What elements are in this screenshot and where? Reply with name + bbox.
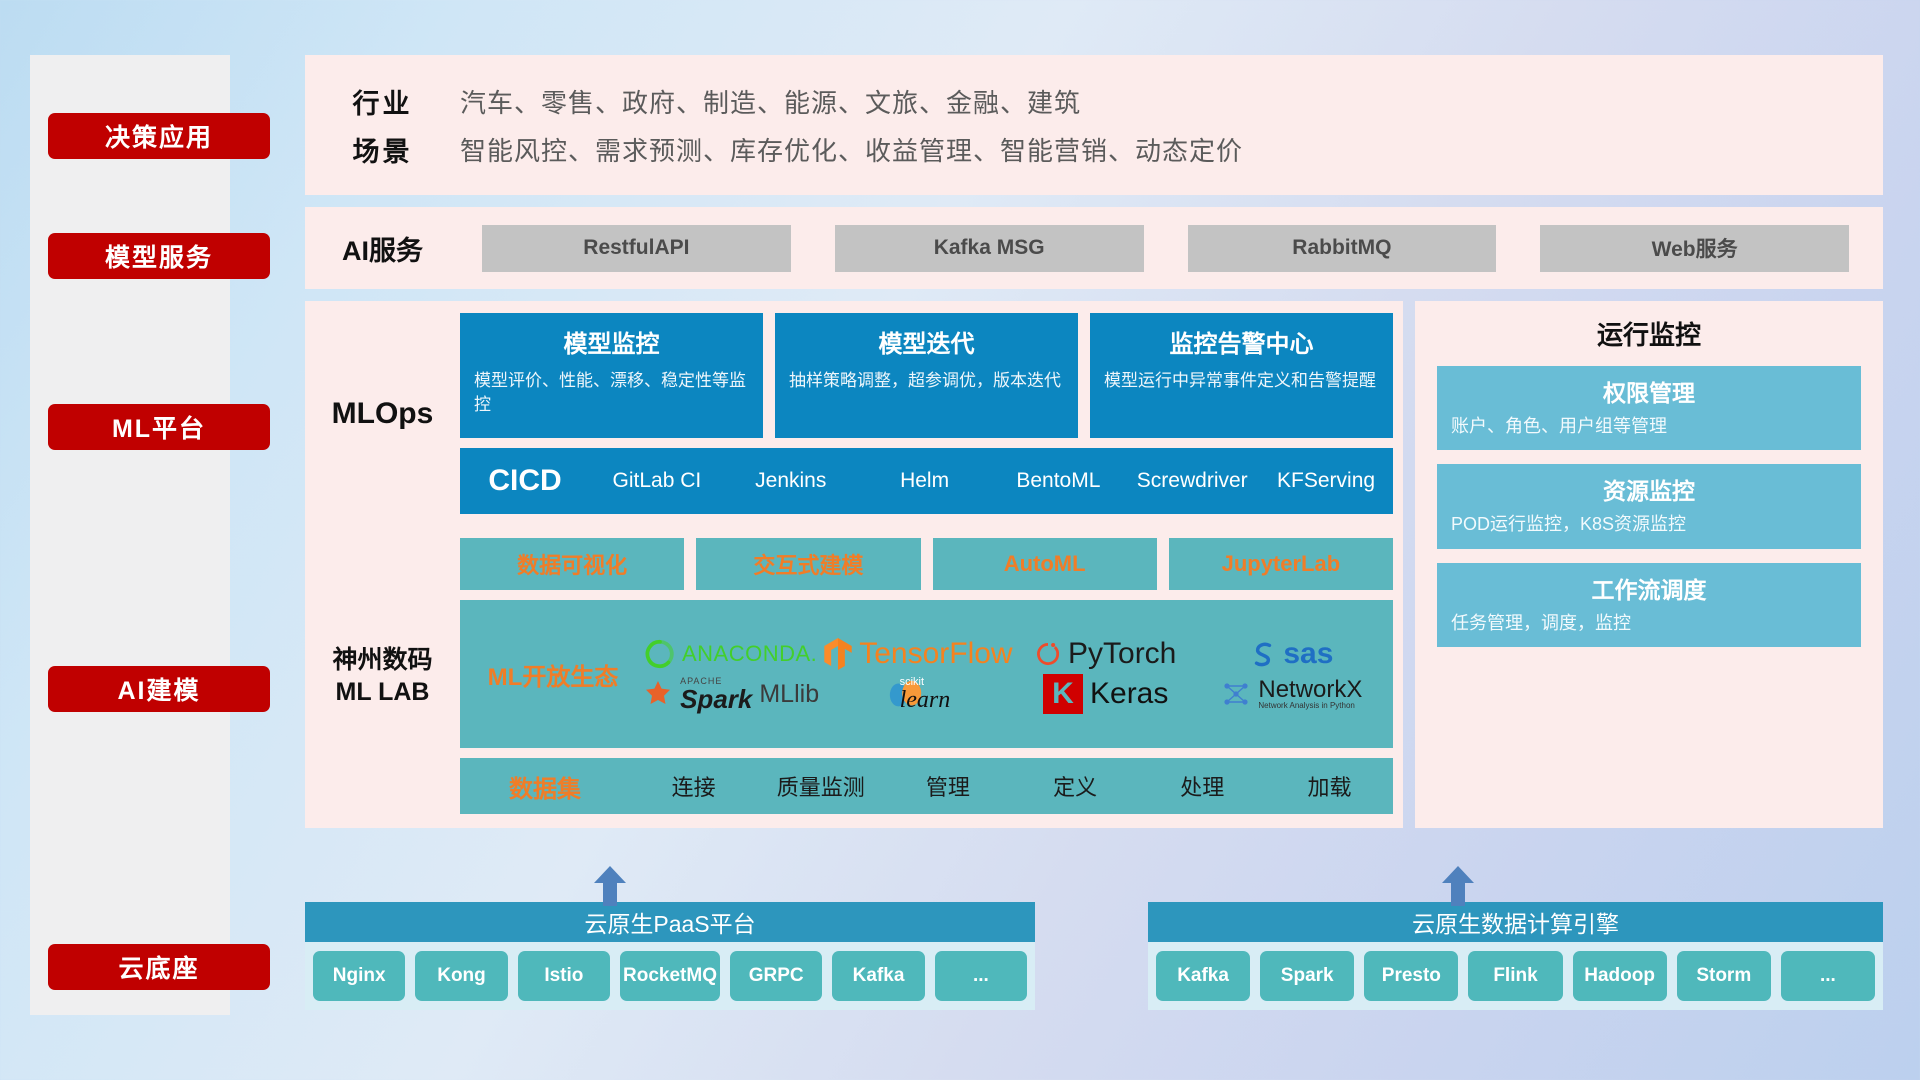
cloud-chip-kong[interactable]: Kong (415, 951, 507, 1001)
pytorch-icon (1035, 639, 1061, 669)
industry-values: 汽车、零售、政府、制造、能源、文旅、金融、建筑 (460, 83, 1081, 120)
tool-jupyterlab[interactable]: JupyterLab (1169, 538, 1393, 590)
mlops-card-model-iteration[interactable]: 模型迭代 抽样策略调整，超参调优，版本迭代 (775, 313, 1078, 438)
cicd-item-gitlab-ci[interactable]: GitLab CI (590, 470, 724, 492)
dataset-item-define[interactable]: 定义 (1012, 770, 1139, 802)
stage-chip-ml-platform[interactable]: ML平台 (48, 404, 270, 450)
stage-chip-label: 决策应用 (105, 118, 213, 154)
application-row-scenario: 场景 智能风控、需求预测、库存优化、收益管理、智能营销、动态定价 (305, 125, 1883, 173)
card-desc: 模型运行中异常事件定义和告警提醒 (1104, 369, 1379, 393)
paas-up-arrow-icon (590, 866, 630, 906)
networkx-logo: NetworkX Network Analysis in Python (1221, 677, 1362, 711)
tensorflow-wordmark: TensorFlow (859, 637, 1012, 671)
scikit-text: scikit (900, 677, 951, 688)
data-chip-presto[interactable]: Presto (1364, 951, 1458, 1001)
spark-mllib-logo: APACHE Spark MLlib (643, 677, 819, 712)
card-desc: POD运行监控，K8S资源监控 (1451, 512, 1847, 536)
stage-chip-label: AI建模 (117, 671, 200, 707)
data-chip-hadoop[interactable]: Hadoop (1573, 951, 1667, 1001)
cloud-base-section: 云原生PaaS平台 Nginx Kong Istio RocketMQ GRPC… (305, 880, 1883, 1040)
cloud-paas-group: 云原生PaaS平台 Nginx Kong Istio RocketMQ GRPC… (305, 902, 1035, 1010)
ml-ecosystem-logos: ANACONDA. TensorFlow (638, 634, 1385, 714)
cloud-data-engine-title: 云原生数据计算引擎 (1148, 902, 1883, 942)
card-title: 资源监控 (1451, 472, 1847, 506)
mlops-card-list: 模型监控 模型评价、性能、漂移、稳定性等监控 模型迭代 抽样策略调整，超参调优，… (460, 313, 1393, 438)
data-chip-kafka[interactable]: Kafka (1156, 951, 1250, 1001)
mlops-card-alert-center[interactable]: 监控告警中心 模型运行中异常事件定义和告警提醒 (1090, 313, 1393, 438)
anaconda-logo: ANACONDA. (645, 639, 817, 669)
tool-data-visualization[interactable]: 数据可视化 (460, 538, 684, 590)
cicd-item-screwdriver[interactable]: Screwdriver (1125, 470, 1259, 492)
ml-lab-label-line1: 神州数码 (332, 644, 432, 677)
dataset-item-process[interactable]: 处理 (1139, 770, 1266, 802)
spark-wordmark: Spark (680, 686, 752, 712)
cloud-paas-title: 云原生PaaS平台 (305, 902, 1035, 942)
dataset-item-load[interactable]: 加载 (1266, 770, 1393, 802)
stage-chip-decision-app[interactable]: 决策应用 (48, 113, 270, 159)
industry-label: 行业 (305, 82, 460, 121)
stage-chip-cloud-base[interactable]: 云底座 (48, 944, 270, 990)
cicd-item-helm[interactable]: Helm (858, 470, 992, 492)
stage-chip-label: 模型服务 (105, 238, 213, 274)
mllib-wordmark: MLlib (759, 680, 819, 709)
sas-icon (1250, 640, 1276, 668)
ai-service-item-rabbitmq[interactable]: RabbitMQ (1188, 225, 1497, 272)
applications-band: 行业 汽车、零售、政府、制造、能源、文旅、金融、建筑 场景 智能风控、需求预测、… (305, 55, 1883, 195)
cloud-chip-grpc[interactable]: GRPC (730, 951, 822, 1001)
pytorch-wordmark: PyTorch (1068, 637, 1176, 671)
application-row-industry: 行业 汽车、零售、政府、制造、能源、文旅、金融、建筑 (305, 77, 1883, 125)
card-desc: 抽样策略调整，超参调优，版本迭代 (789, 369, 1064, 393)
architecture-main: 行业 汽车、零售、政府、制造、能源、文旅、金融、建筑 场景 智能风控、需求预测、… (305, 55, 1883, 840)
ai-service-item-kafka-msg[interactable]: Kafka MSG (835, 225, 1144, 272)
sas-logo: sas (1250, 637, 1333, 671)
networkx-icon (1221, 679, 1251, 709)
monitor-card-resource[interactable]: 资源监控 POD运行监控，K8S资源监控 (1437, 464, 1861, 548)
ai-service-items: RestfulAPI Kafka MSG RabbitMQ Web服务 (460, 225, 1883, 272)
tensorflow-icon (824, 638, 852, 670)
scikit-learn-logo: scikit learn (887, 677, 951, 712)
pytorch-logo: PyTorch (1035, 637, 1176, 671)
cloud-data-engine-chips: Kafka Spark Presto Flink Hadoop Storm ..… (1148, 942, 1883, 1010)
learn-text: learn (900, 688, 951, 712)
data-chip-storm[interactable]: Storm (1677, 951, 1771, 1001)
cicd-bar: CICD GitLab CI Jenkins Helm BentoML Scre… (460, 448, 1393, 514)
card-title: 监控告警中心 (1104, 324, 1379, 359)
keras-logo: K Keras (1043, 674, 1168, 714)
mlops-card-model-monitoring[interactable]: 模型监控 模型评价、性能、漂移、稳定性等监控 (460, 313, 763, 438)
data-chip-flink[interactable]: Flink (1468, 951, 1562, 1001)
card-title: 模型迭代 (789, 324, 1064, 359)
networkx-tagline: Network Analysis in Python (1258, 702, 1362, 710)
cloud-data-engine-group: 云原生数据计算引擎 Kafka Spark Presto Flink Hadoo… (1148, 902, 1883, 1010)
cloud-chip-kafka[interactable]: Kafka (832, 951, 924, 1001)
ml-lab-label-line2: ML LAB (336, 676, 430, 709)
cicd-label: CICD (460, 464, 590, 498)
dataset-item-quality-monitor[interactable]: 质量监测 (757, 770, 884, 802)
cloud-chip-more[interactable]: ... (935, 951, 1027, 1001)
mlops-label: MLOps (305, 313, 460, 514)
keras-wordmark: Keras (1090, 677, 1168, 711)
monitor-card-workflow[interactable]: 工作流调度 任务管理，调度，监控 (1437, 563, 1861, 647)
stage-chip-ai-modeling[interactable]: AI建模 (48, 666, 270, 712)
cloud-paas-chips: Nginx Kong Istio RocketMQ GRPC Kafka ... (305, 942, 1035, 1010)
cicd-item-bentoml[interactable]: BentoML (991, 470, 1125, 492)
cloud-chip-istio[interactable]: Istio (518, 951, 610, 1001)
ml-ecosystem-label: ML开放生态 (468, 657, 638, 692)
spark-star-icon (643, 679, 673, 709)
ml-lab-tool-row: 数据可视化 交互式建模 AutoML JupyterLab (460, 538, 1393, 590)
ai-service-band: AI服务 RestfulAPI Kafka MSG RabbitMQ Web服务 (305, 207, 1883, 289)
runtime-monitoring-panel: 运行监控 权限管理 账户、角色、用户组等管理 资源监控 POD运行监控，K8S资… (1415, 301, 1883, 828)
stage-chip-label: ML平台 (112, 409, 206, 445)
data-chip-more[interactable]: ... (1781, 951, 1875, 1001)
dataset-label: 数据集 (460, 769, 630, 804)
networkx-wordmark: NetworkX (1258, 677, 1362, 702)
card-title: 工作流调度 (1451, 571, 1847, 605)
cicd-item-jenkins[interactable]: Jenkins (724, 470, 858, 492)
ai-service-item-restfulapi[interactable]: RestfulAPI (482, 225, 791, 272)
cloud-chip-rocketmq[interactable]: RocketMQ (620, 951, 720, 1001)
stage-chip-label: 云底座 (118, 949, 199, 985)
card-desc: 账户、角色、用户组等管理 (1451, 414, 1847, 438)
keras-mark: K (1043, 674, 1083, 714)
anaconda-icon (645, 639, 675, 669)
dataset-item-connect[interactable]: 连接 (630, 770, 757, 802)
ml-lab-section: 神州数码 ML LAB 数据可视化 交互式建模 AutoML JupyterLa… (305, 526, 1403, 828)
ai-service-label: AI服务 (305, 229, 460, 268)
mlops-section: MLOps 模型监控 模型评价、性能、漂移、稳定性等监控 模型迭代 抽样策略调整… (305, 301, 1403, 526)
cloud-chip-nginx[interactable]: Nginx (313, 951, 405, 1001)
ml-ecosystem-row: ML开放生态 ANACONDA. (460, 600, 1393, 748)
tool-automl[interactable]: AutoML (933, 538, 1157, 590)
scenario-label: 场景 (305, 130, 460, 169)
anaconda-wordmark: ANACONDA. (682, 641, 817, 667)
monitor-card-permission[interactable]: 权限管理 账户、角色、用户组等管理 (1437, 366, 1861, 450)
card-desc: 任务管理，调度，监控 (1451, 611, 1847, 635)
cicd-item-kfserving[interactable]: KFServing (1259, 470, 1393, 492)
card-desc: 模型评价、性能、漂移、稳定性等监控 (474, 369, 749, 417)
dataset-row: 数据集 连接 质量监测 管理 定义 处理 加载 (460, 758, 1393, 814)
dataset-item-manage[interactable]: 管理 (884, 770, 1011, 802)
scenario-values: 智能风控、需求预测、库存优化、收益管理、智能营销、动态定价 (460, 131, 1243, 168)
ml-lab-label: 神州数码 ML LAB (305, 538, 460, 814)
ai-service-item-web-service[interactable]: Web服务 (1540, 225, 1849, 272)
tool-interactive-modeling[interactable]: 交互式建模 (696, 538, 920, 590)
runtime-monitoring-title: 运行监控 (1437, 315, 1861, 352)
data-engine-up-arrow-icon (1438, 866, 1478, 906)
tensorflow-logo: TensorFlow (824, 637, 1012, 671)
stage-chip-model-service[interactable]: 模型服务 (48, 233, 270, 279)
card-title: 权限管理 (1451, 374, 1847, 408)
card-title: 模型监控 (474, 324, 749, 359)
stage-rail (30, 55, 230, 1015)
data-chip-spark[interactable]: Spark (1260, 951, 1354, 1001)
sas-wordmark: sas (1283, 637, 1333, 671)
ml-platform-band: MLOps 模型监控 模型评价、性能、漂移、稳定性等监控 模型迭代 抽样策略调整… (305, 301, 1883, 828)
